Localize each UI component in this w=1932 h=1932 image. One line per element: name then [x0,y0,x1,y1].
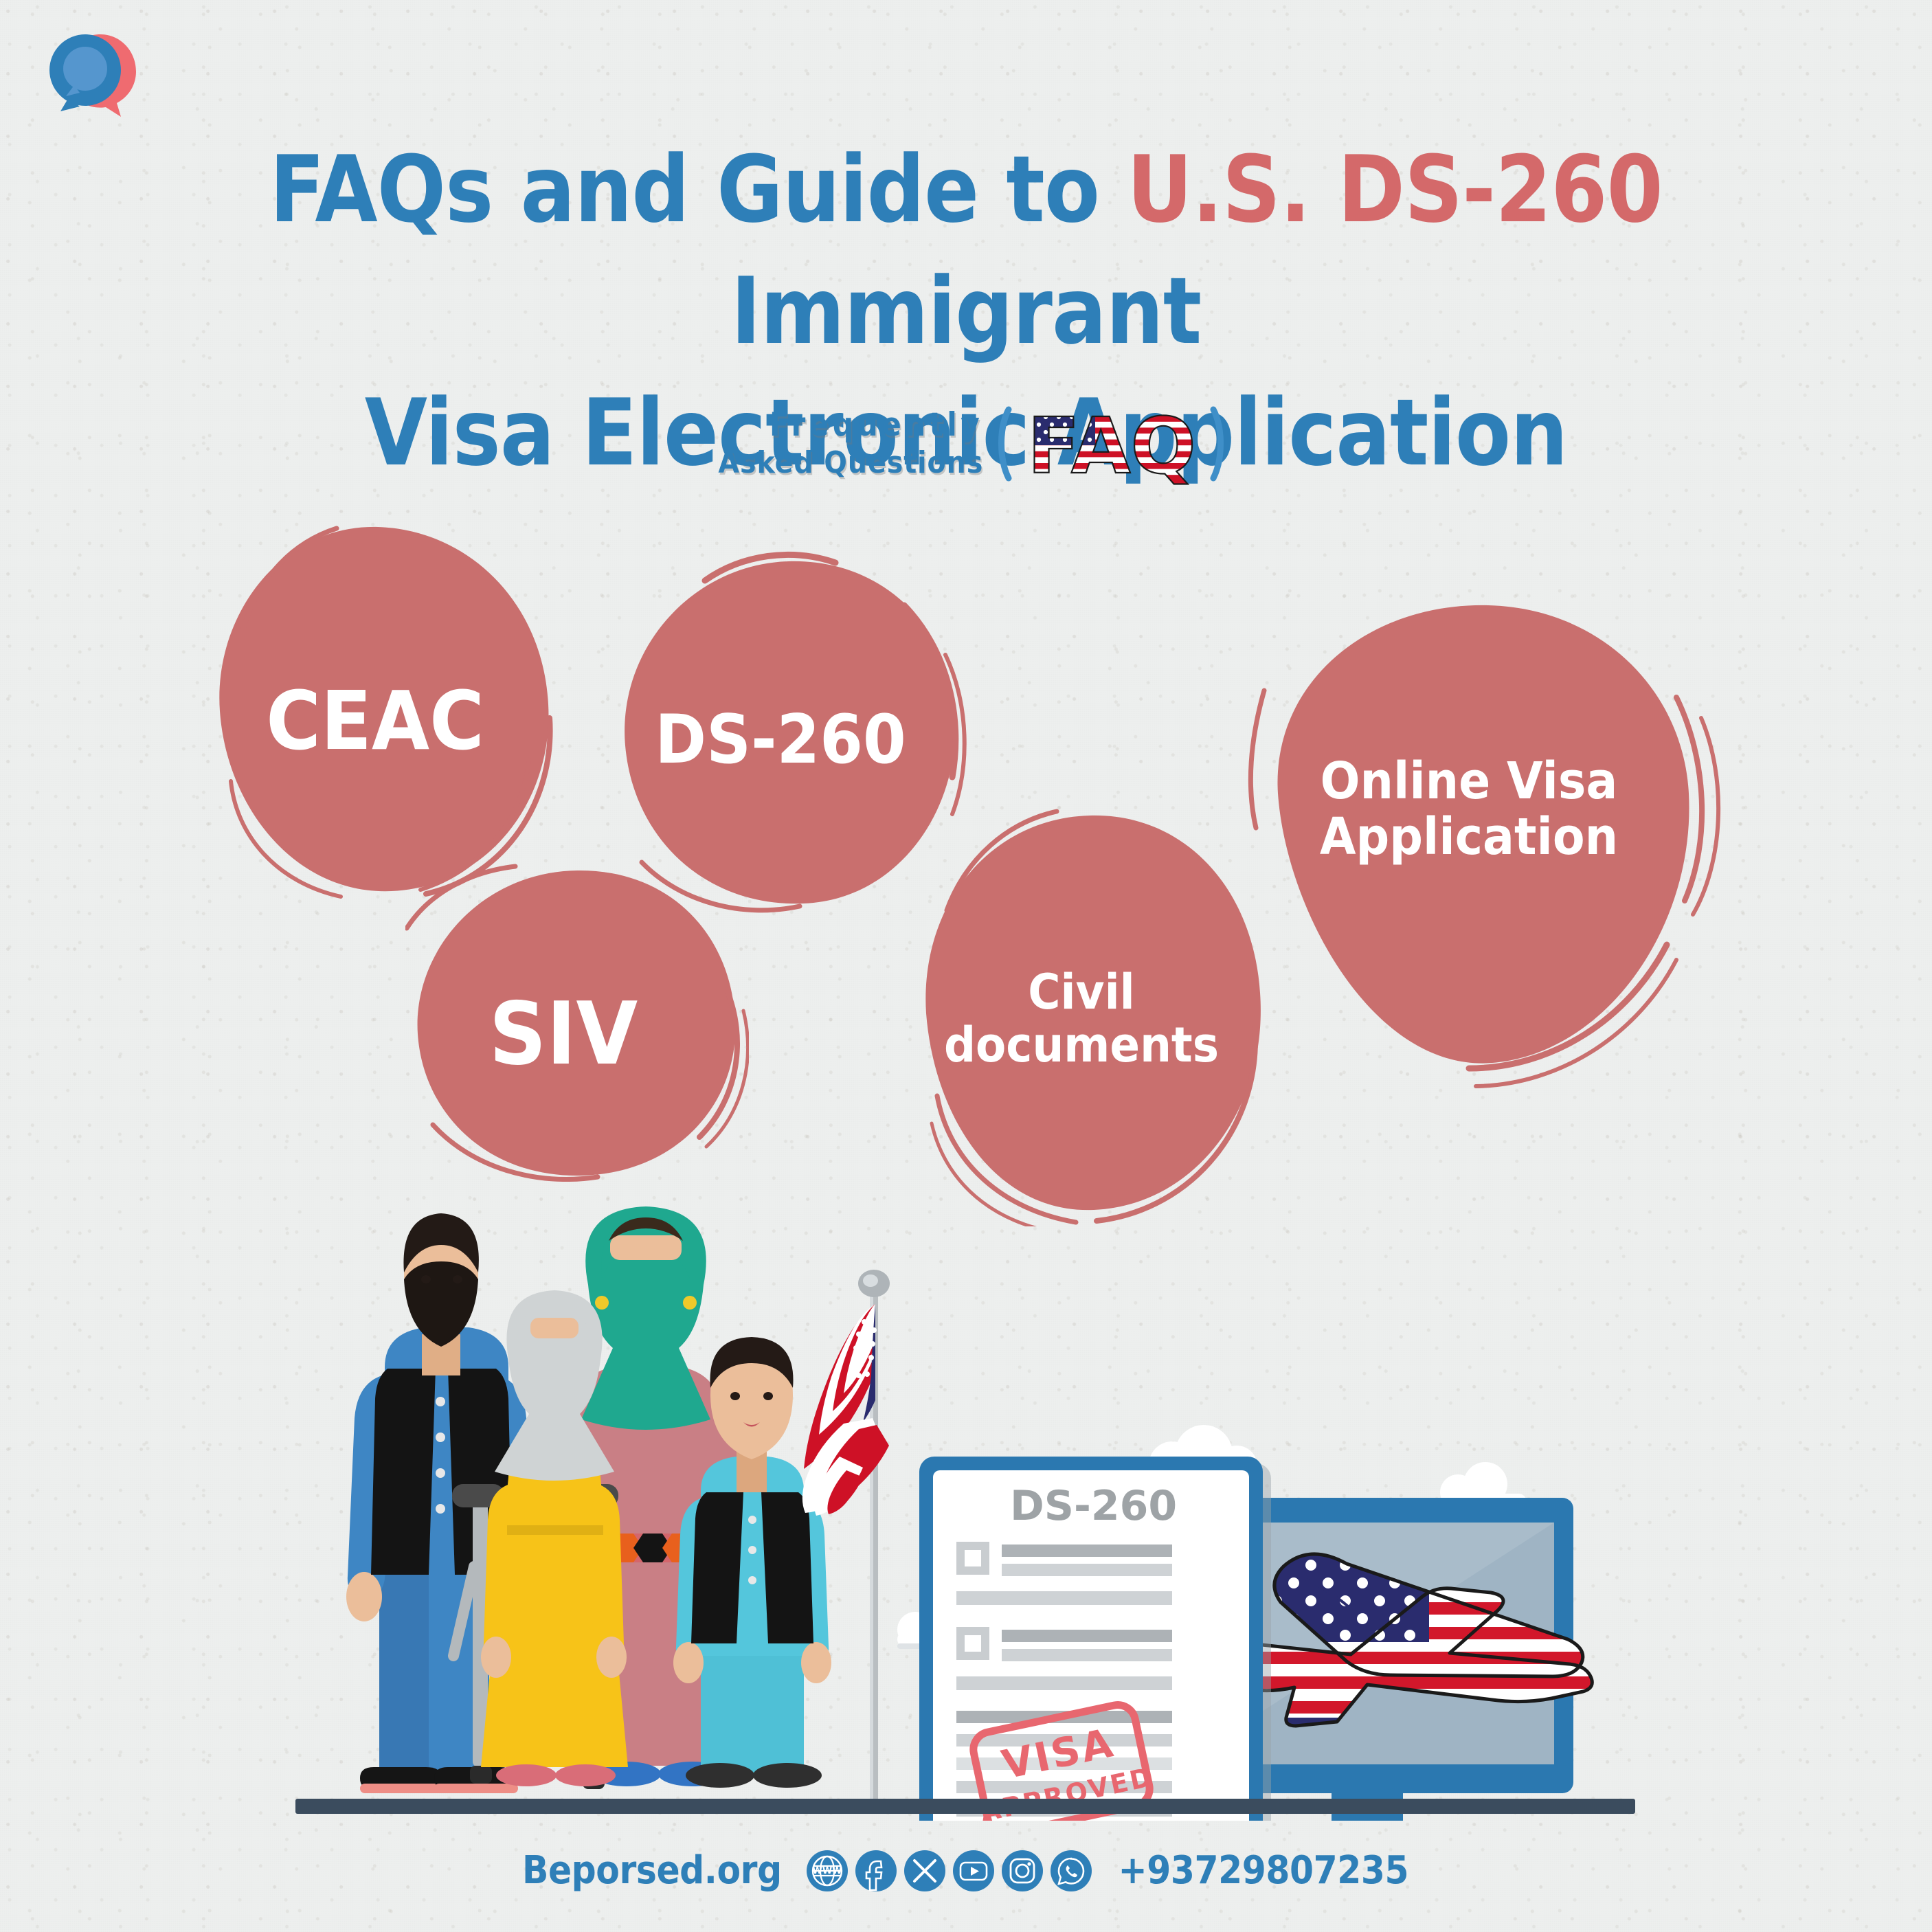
title-part-2: Immigrant [731,258,1202,365]
instagram-icon[interactable] [1001,1850,1044,1892]
blob-shape-online [1237,587,1731,1089]
ds260-document-title: DS-260 [1010,1482,1177,1530]
blob-shape-ceac [206,512,563,900]
faq-words: Frequently Asked Questions [718,405,983,482]
ds260-document: DS-260 VISA APPROVED [919,1457,1271,1821]
tag-blob-civil[interactable]: Civil documents [907,800,1292,1226]
faq-acronym-icon: FAQ [995,392,1228,495]
illustration-scene: DS-260 VISA APPROVED [0,1182,1932,1821]
ground-line [295,1799,1635,1814]
svg-text:WWW: WWW [812,1866,842,1876]
whatsapp-icon[interactable] [1050,1850,1092,1892]
facebook-icon[interactable] [855,1850,897,1892]
faq-flag-mark: FAQ [995,392,1228,498]
title-line-1: FAQs and Guide to U.S. DS-260 Immigrant [116,129,1817,372]
tag-blob-siv[interactable]: SIV [405,862,749,1182]
x-twitter-icon[interactable] [903,1850,946,1892]
brand-logo[interactable] [40,29,150,122]
faq-paren-open [1002,409,1009,478]
tag-blob-ceac[interactable]: CEAC [206,512,563,900]
title-part-1: FAQs and Guide to [269,136,1127,243]
faq-line-2: Asked Questions [718,445,983,482]
faq-subtitle-block: Frequently Asked Questions [0,389,1932,498]
speech-bubble-logo-icon [40,29,150,122]
youtube-icon[interactable] [952,1850,995,1892]
social-icons: WWW [806,1850,1092,1892]
website-link[interactable]: Beporsed.org [522,1848,782,1893]
blob-shape-civil [907,800,1292,1226]
phone-number[interactable]: +93729807235 [1118,1848,1408,1893]
footer-contact-bar: Beporsed.org WWW [0,1848,1932,1893]
blob-shape-siv [405,862,749,1182]
faq-line-1: Frequently [718,405,983,445]
globe-www-icon[interactable]: WWW [806,1850,849,1892]
faq-paren-close [1213,409,1221,478]
tag-blob-online-visa[interactable]: Online Visa Application [1237,587,1731,1089]
title-accent: U.S. DS-260 [1127,136,1663,243]
svg-text:FAQ: FAQ [1028,402,1197,491]
